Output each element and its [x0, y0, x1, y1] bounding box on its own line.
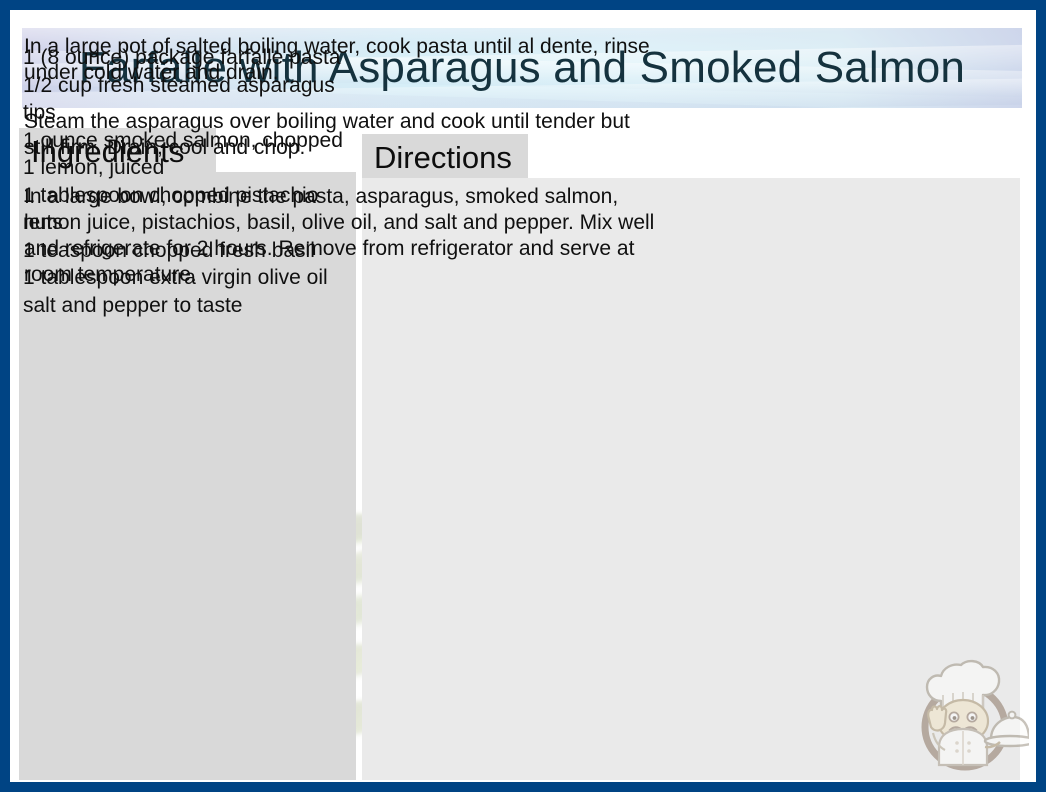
recipe-card: Farfalle with Asparagus and Smoked Salmo…: [0, 0, 1046, 792]
direction-step: Steam the asparagus over boiling water a…: [24, 109, 660, 161]
list-item: salt and pepper to taste: [23, 292, 343, 320]
recipe-page: Farfalle with Asparagus and Smoked Salmo…: [10, 10, 1036, 782]
direction-step: In a large bowl, combine the pasta, aspa…: [24, 184, 660, 288]
direction-step: In a large pot of salted boiling water, …: [24, 34, 660, 86]
directions-steps: In a large pot of salted boiling water, …: [24, 34, 660, 288]
